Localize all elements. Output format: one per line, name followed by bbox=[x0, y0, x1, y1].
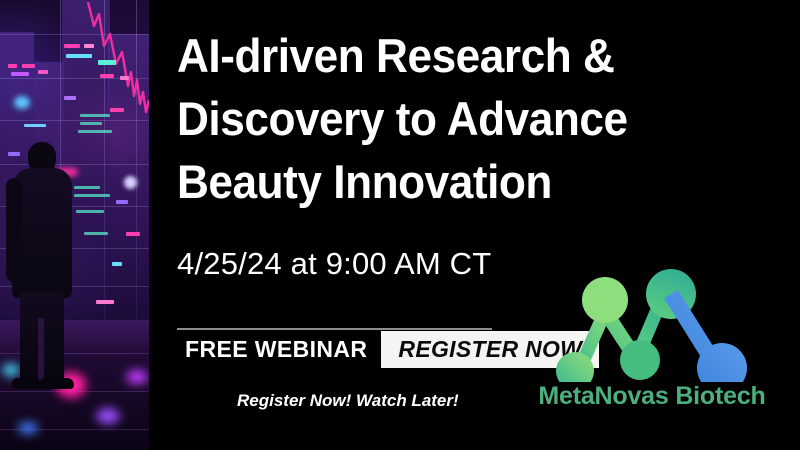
neon-glow bbox=[124, 176, 137, 189]
neon-light bbox=[38, 70, 48, 74]
headline-line-2: Discovery to Advance bbox=[177, 87, 741, 150]
neon-light bbox=[64, 96, 76, 100]
free-webinar-label: FREE WEBINAR bbox=[177, 331, 381, 368]
data-ticker-row bbox=[76, 210, 104, 213]
silhouette-arm bbox=[6, 178, 22, 282]
neon-light bbox=[66, 54, 92, 58]
cta-top-rule bbox=[177, 328, 492, 330]
webinar-promo-banner: AI-driven Research & Discovery to Advanc… bbox=[0, 0, 800, 450]
hero-image-panel bbox=[0, 0, 152, 450]
silhouette-shoe bbox=[40, 378, 74, 389]
company-name: MetaNovas Biotech bbox=[532, 382, 772, 411]
neon-light bbox=[96, 300, 114, 304]
data-ticker-row bbox=[80, 122, 102, 125]
neon-light bbox=[24, 124, 46, 127]
neon-light bbox=[22, 64, 35, 68]
neon-light bbox=[126, 232, 140, 236]
neon-light bbox=[8, 64, 17, 68]
headline: AI-driven Research & Discovery to Advanc… bbox=[177, 24, 741, 213]
data-ticker-row bbox=[84, 232, 108, 235]
tagline: Register Now! Watch Later! bbox=[237, 391, 459, 411]
neon-glow bbox=[14, 96, 30, 109]
silhouette-shoe bbox=[12, 378, 42, 389]
company-logo: MetaNovas Biotech bbox=[532, 262, 772, 427]
neon-light bbox=[100, 74, 114, 78]
data-ticker-row bbox=[74, 194, 110, 197]
neon-light bbox=[116, 200, 128, 204]
logo-node-right bbox=[664, 290, 747, 382]
metanovas-m-mark-icon bbox=[532, 262, 772, 382]
headline-line-3: Beauty Innovation bbox=[177, 150, 741, 213]
neon-light bbox=[110, 108, 124, 112]
businessman-silhouette bbox=[6, 142, 78, 392]
neon-light bbox=[120, 76, 129, 80]
neon-light bbox=[112, 262, 122, 266]
floor-reflection bbox=[96, 408, 120, 424]
data-ticker-row bbox=[78, 130, 112, 133]
logo-node-center bbox=[620, 340, 660, 380]
headline-line-1: AI-driven Research & bbox=[177, 24, 741, 87]
neon-light bbox=[64, 44, 80, 48]
neon-light bbox=[84, 44, 94, 48]
floor-reflection bbox=[126, 370, 148, 384]
data-ticker-row bbox=[80, 114, 110, 117]
event-datetime: 4/25/24 at 9:00 AM CT bbox=[177, 246, 491, 282]
neon-light bbox=[11, 72, 29, 76]
neon-light bbox=[98, 60, 116, 65]
silhouette-leg-gap bbox=[38, 318, 44, 380]
content-area: AI-driven Research & Discovery to Advanc… bbox=[152, 0, 800, 450]
floor-reflection bbox=[18, 422, 38, 434]
